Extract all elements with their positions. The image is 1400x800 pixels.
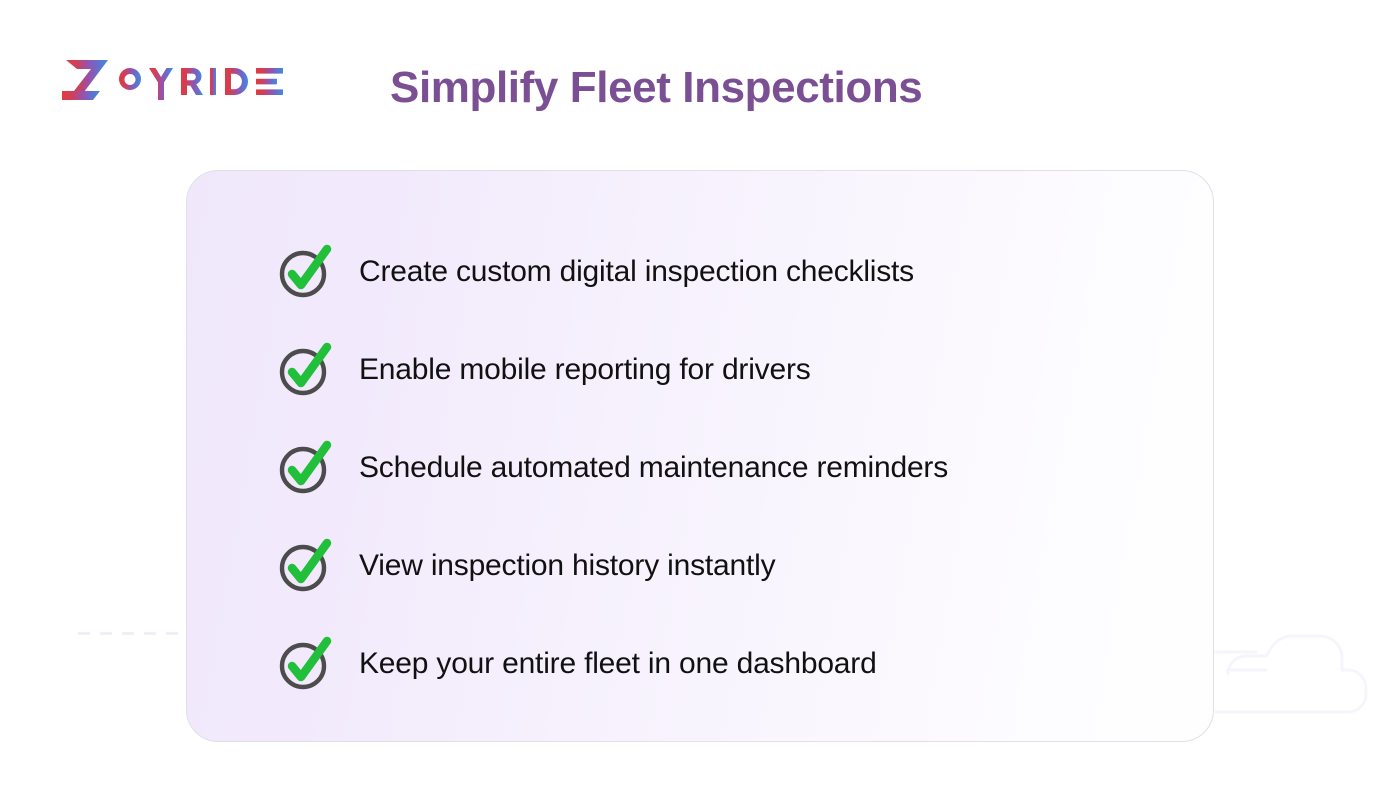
list-item: Enable mobile reporting for drivers [277, 321, 1157, 419]
check-circle-glyph [277, 538, 333, 594]
header: Simplify Fleet Inspections [0, 0, 1400, 170]
zoyride-logo-wordmark [60, 57, 296, 103]
dashed-road-line-watermark [78, 632, 186, 635]
list-item: Keep your entire fleet in one dashboard [277, 615, 1157, 713]
car-outline-watermark [1202, 620, 1382, 730]
feature-card: Create custom digital inspection checkli… [186, 170, 1214, 742]
page-title: Simplify Fleet Inspections [390, 62, 922, 115]
check-circle-glyph [277, 342, 333, 398]
slide-canvas: Simplify Fleet Inspections Create [0, 0, 1400, 800]
list-item-label: Create custom digital inspection checkli… [359, 253, 914, 291]
list-item-label: View inspection history instantly [359, 547, 775, 585]
check-circle-glyph [277, 440, 333, 496]
list-item-label: Schedule automated maintenance reminders [359, 449, 948, 487]
list-item-label: Keep your entire fleet in one dashboard [359, 645, 877, 683]
zoyride-logo [60, 57, 296, 103]
list-item-label: Enable mobile reporting for drivers [359, 351, 811, 389]
check-circle-icon [277, 636, 333, 692]
car-outline-icon [1202, 620, 1382, 730]
check-circle-glyph [277, 244, 333, 300]
check-circle-icon [277, 244, 333, 300]
check-circle-icon [277, 342, 333, 398]
check-circle-icon [277, 440, 333, 496]
list-item: Create custom digital inspection checkli… [277, 223, 1157, 321]
check-circle-icon [277, 538, 333, 594]
feature-checklist: Create custom digital inspection checkli… [277, 223, 1157, 713]
check-circle-glyph [277, 636, 333, 692]
list-item: Schedule automated maintenance reminders [277, 419, 1157, 517]
list-item: View inspection history instantly [277, 517, 1157, 615]
